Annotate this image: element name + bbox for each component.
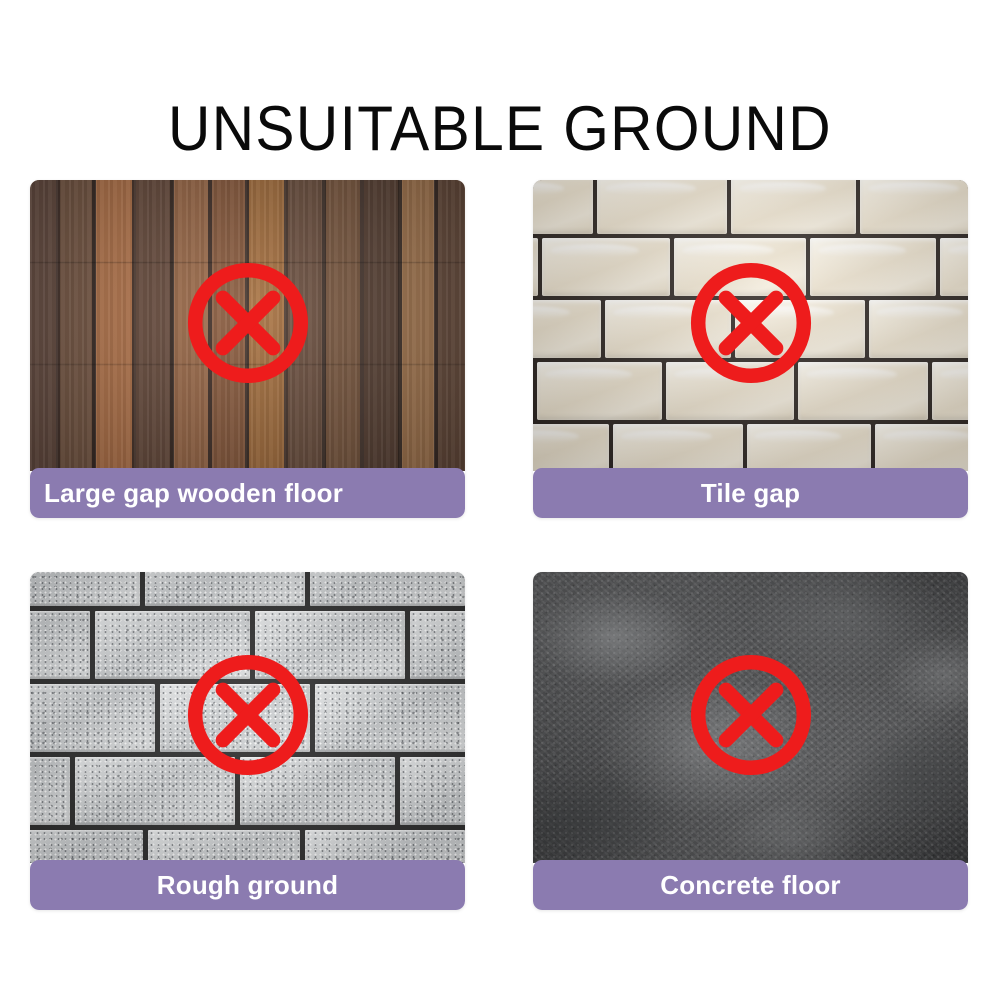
card-rough-ground[interactable]: Rough ground (30, 572, 465, 910)
card-large-gap-wooden-floor[interactable]: Large gap wooden floor (30, 180, 465, 518)
card-caption-bar: Rough ground (30, 860, 465, 910)
subway-tile-texture (533, 180, 968, 471)
card-caption-bar: Tile gap (533, 468, 968, 518)
rough-stone-block-texture (30, 572, 465, 863)
card-label: Large gap wooden floor (44, 480, 451, 506)
page-title: UNSUITABLE GROUND (35, 94, 965, 164)
surface-photo-concrete (533, 572, 968, 863)
card-caption-bar: Concrete floor (533, 860, 968, 910)
card-label: Rough ground (30, 872, 465, 898)
wood-plank-texture (30, 180, 465, 471)
surface-photo-tile (533, 180, 968, 471)
card-concrete-floor[interactable]: Concrete floor (533, 572, 968, 910)
surface-photo-wood (30, 180, 465, 471)
unsuitable-ground-grid: Large gap wooden floor (30, 180, 970, 920)
card-label: Concrete floor (533, 872, 968, 898)
card-label: Tile gap (533, 480, 968, 506)
card-tile-gap[interactable]: Tile gap (533, 180, 968, 518)
surface-photo-stone (30, 572, 465, 863)
concrete-texture (533, 572, 968, 863)
card-caption-bar: Large gap wooden floor (30, 468, 465, 518)
